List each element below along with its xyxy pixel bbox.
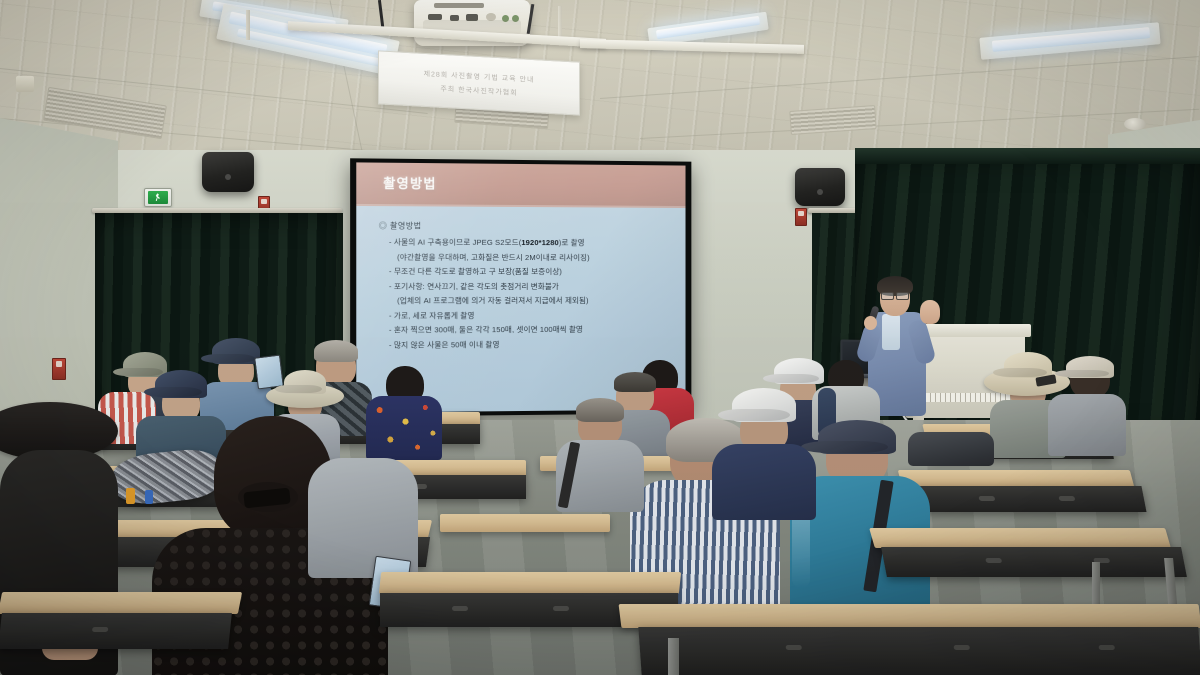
exit-pictogram [148, 191, 169, 203]
ceiling-mount-pole [246, 10, 250, 40]
wall-speaker-right [795, 168, 845, 206]
person-torso [712, 444, 816, 520]
slide-line: (업체의 AI 프로그램에 의거 자동 걸러져서 지급에서 제외됨) [397, 295, 685, 306]
slide-title-bar: 촬영방법 [356, 162, 685, 208]
slide-line: (야간촬영을 우대하며, 고화질은 반드시 2M이내로 리사이징) [397, 251, 685, 263]
desk-row4c-front [638, 627, 1200, 675]
slide-line-after: )로 촬영 [559, 238, 585, 247]
desk-row2d-front [905, 486, 1146, 512]
backpack-strap-buckle [126, 488, 135, 504]
fire-alarm-right[interactable] [795, 208, 807, 226]
desk-row4 [0, 592, 242, 614]
wall-speaker-left [202, 152, 254, 192]
slide-line: - 무조건 다른 각도로 촬영하고 구 보장(품질 보증이상) [389, 266, 686, 277]
hanging-banner: 제28회 사진촬영 기법 교육 안내 주최 한국사진작가협회 [378, 50, 580, 115]
slide-line: - 혼자 찍으면 300매, 둘은 각각 150매, 셋이면 100매씩 촬영 [389, 324, 686, 336]
person-torso [1048, 394, 1126, 456]
shoulder-bag [908, 432, 994, 466]
audience-member [712, 388, 816, 514]
desk-row4b [379, 572, 681, 594]
slide-line: - 가로, 세로 자유롭게 촬영 [389, 309, 686, 321]
jacket-highlight [792, 508, 810, 588]
ceiling-mount-pole [558, 6, 562, 40]
slide-section-heading: ◎ 촬영방법 [379, 220, 686, 232]
desk-row3d-front [881, 547, 1187, 577]
lecture-room-photo: 제28회 사진촬영 기법 교육 안내 주최 한국사진작가협회 [0, 0, 1200, 675]
bullet-icon: ◎ [379, 221, 388, 230]
slide-heading-text: 촬영방법 [390, 222, 422, 231]
slide-line: - 사물의 AI 구축용이므로 JPEG S2모드(1920*1280)로 촬영 [389, 237, 686, 249]
cap-icon [818, 420, 896, 454]
glasses-icon [881, 292, 909, 298]
hat-icon [1066, 356, 1114, 378]
fire-alarm-foreground[interactable] [52, 358, 66, 380]
desk-row4-front [0, 613, 232, 649]
audience-member [1048, 356, 1126, 456]
desk-leg [668, 638, 679, 675]
desk-row3d [869, 528, 1171, 548]
cap-icon [155, 370, 207, 398]
audience-member [556, 398, 644, 508]
slide-line-bold: 1920*1280 [521, 238, 558, 247]
sprinkler-head [16, 76, 34, 92]
cap-icon [212, 338, 260, 364]
slide-line: - 많지 않은 사물은 50매 이내 촬영 [389, 338, 686, 350]
presenter-shirt [882, 314, 900, 350]
slide-line-text: - 사물의 AI 구축용이므로 JPEG S2모드( [389, 238, 521, 248]
hat-crown [284, 370, 326, 394]
desk-row2d [898, 470, 1135, 487]
hat-crown [1004, 352, 1052, 378]
exit-sign-left [144, 188, 172, 207]
person-hair [314, 340, 358, 362]
slide-title: 촬영방법 [383, 172, 436, 192]
cap-icon [732, 388, 796, 422]
desk-row3c [440, 514, 610, 532]
desk-row4c [619, 604, 1200, 628]
person-hair [614, 372, 656, 392]
person-hair [576, 398, 624, 422]
presenter-raised-hand [920, 300, 940, 324]
presenter-mic-hand [864, 316, 877, 330]
slide-line: - 포기사항: 연사끄기, 같은 각도의 촛점거리 변화불가 [389, 281, 686, 292]
